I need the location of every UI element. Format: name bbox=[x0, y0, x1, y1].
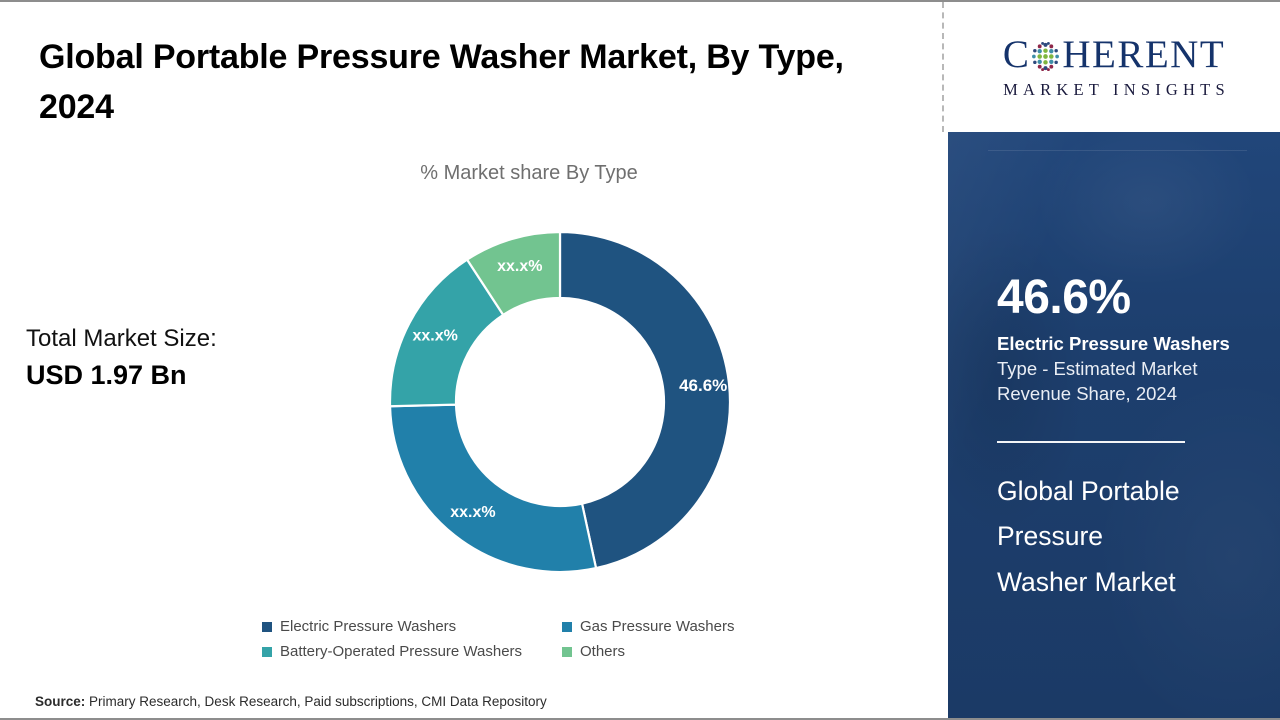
donut-slice-label: xx.x% bbox=[450, 504, 495, 521]
market-name-line-3: Washer Market bbox=[997, 567, 1176, 597]
legend-swatch-icon bbox=[562, 622, 572, 632]
stat-segment-name: Electric Pressure Washers bbox=[997, 332, 1280, 356]
legend-swatch-icon bbox=[262, 622, 272, 632]
market-name-line-1: Global Portable bbox=[997, 476, 1180, 506]
legend-swatch-icon bbox=[562, 647, 572, 657]
donut-slice-label: xx.x% bbox=[497, 258, 542, 275]
donut-slice-label: xx.x% bbox=[413, 328, 458, 345]
legend-row: Electric Pressure Washers Gas Pressure W… bbox=[262, 618, 782, 635]
donut-chart-svg: 46.6%xx.x%xx.x%xx.x% bbox=[388, 230, 732, 574]
legend-item-gas-pressure-washers[interactable]: Gas Pressure Washers bbox=[562, 618, 782, 635]
market-name: Global Portable Pressure Washer Market bbox=[997, 469, 1249, 606]
source-line: Source: Primary Research, Desk Research,… bbox=[35, 694, 547, 709]
legend-label: Battery-Operated Pressure Washers bbox=[280, 643, 522, 660]
legend-label: Electric Pressure Washers bbox=[280, 618, 456, 635]
stat-panel: 46.6% Electric Pressure Washers Type - E… bbox=[948, 132, 1280, 720]
logo-tagline: MARKET INSIGHTS bbox=[998, 80, 1230, 100]
panel-divider bbox=[942, 2, 944, 132]
globe-icon bbox=[1030, 41, 1061, 72]
page-title: Global Portable Pressure Washer Market, … bbox=[39, 32, 859, 133]
right-sidebar-panel: C bbox=[948, 2, 1280, 720]
stat-value: 46.6% bbox=[997, 132, 1280, 322]
donut-chart: 46.6%xx.x%xx.x%xx.x% bbox=[388, 230, 732, 574]
logo-wordmark: C bbox=[1003, 35, 1225, 74]
donut-slice-label: 46.6% bbox=[679, 376, 727, 395]
donut-slices bbox=[390, 232, 730, 572]
market-name-line-2: Pressure bbox=[997, 521, 1103, 551]
legend-swatch-icon bbox=[262, 647, 272, 657]
stat-description: Type - Estimated Market Revenue Share, 2… bbox=[997, 357, 1247, 406]
divider-rule bbox=[997, 441, 1185, 443]
chart-legend: Electric Pressure Washers Gas Pressure W… bbox=[262, 618, 782, 668]
legend-item-electric-pressure-washers[interactable]: Electric Pressure Washers bbox=[262, 618, 562, 635]
legend-label: Others bbox=[580, 643, 625, 660]
total-market-size-value: USD 1.97 Bn bbox=[26, 357, 326, 394]
source-label: Source: bbox=[35, 694, 85, 709]
left-content-panel: Global Portable Pressure Washer Market, … bbox=[0, 2, 943, 720]
logo-letters-herent: HERENT bbox=[1062, 35, 1225, 74]
donut-slice[interactable] bbox=[390, 405, 596, 572]
total-market-size-label: Total Market Size: bbox=[26, 324, 326, 355]
legend-item-others[interactable]: Others bbox=[562, 643, 782, 660]
stat-panel-content: 46.6% Electric Pressure Washers Type - E… bbox=[948, 132, 1280, 605]
chart-subtitle: % Market share By Type bbox=[0, 162, 943, 185]
brand-logo[interactable]: C bbox=[948, 2, 1280, 132]
logo-letter-c: C bbox=[1003, 35, 1031, 74]
legend-label: Gas Pressure Washers bbox=[580, 618, 735, 635]
legend-item-battery-operated-pressure-washers[interactable]: Battery-Operated Pressure Washers bbox=[262, 643, 562, 660]
legend-row: Battery-Operated Pressure Washers Others bbox=[262, 643, 782, 660]
source-text: Primary Research, Desk Research, Paid su… bbox=[89, 694, 547, 709]
infographic-page: Global Portable Pressure Washer Market, … bbox=[0, 0, 1280, 720]
total-market-size-block: Total Market Size: USD 1.97 Bn bbox=[26, 324, 326, 393]
